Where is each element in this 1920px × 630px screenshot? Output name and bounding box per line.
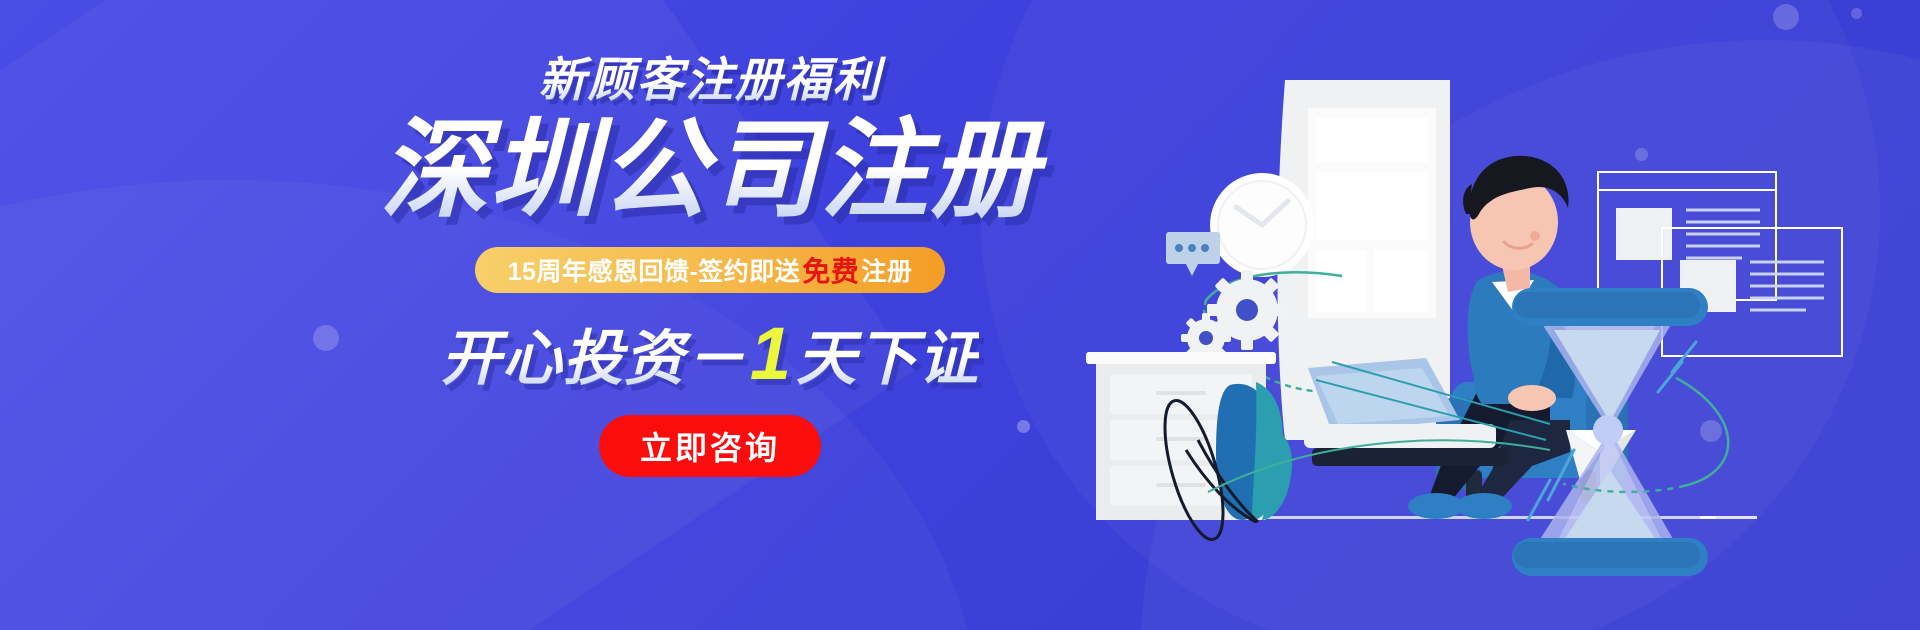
- office-illustration: [1080, 0, 1920, 630]
- gear-icon: [1181, 270, 1287, 363]
- tagline-number: 1: [746, 313, 796, 394]
- banner-tagline: 开心投资－ 1 天下证: [330, 313, 1090, 394]
- consult-now-label: 立即咨询: [640, 423, 780, 469]
- promo-pill: 15周年感恩回馈-签约即送 免费 注册: [475, 247, 945, 293]
- banner-headline: 深圳公司注册: [330, 110, 1090, 231]
- tagline-after: 天下证: [796, 326, 979, 392]
- promo-prefix: 15周年感恩回馈-签约即送: [508, 252, 801, 288]
- promo-highlight: 免费: [800, 250, 861, 290]
- consult-now-button[interactable]: 立即咨询: [599, 415, 821, 477]
- banner-copy: 新顾客注册福利 深圳公司注册 15周年感恩回馈-签约即送 免费 注册 开心投资－…: [330, 55, 1090, 477]
- tagline-before: 开心投资－: [441, 326, 746, 392]
- chat-bubble-icon: [1166, 232, 1220, 276]
- banner-eyebrow: 新顾客注册福利: [330, 55, 1090, 104]
- clock-icon: [1210, 173, 1314, 277]
- promo-banner: 新顾客注册福利 深圳公司注册 15周年感恩回馈-签约即送 免费 注册 开心投资－…: [0, 0, 1920, 630]
- promo-suffix: 注册: [861, 252, 912, 288]
